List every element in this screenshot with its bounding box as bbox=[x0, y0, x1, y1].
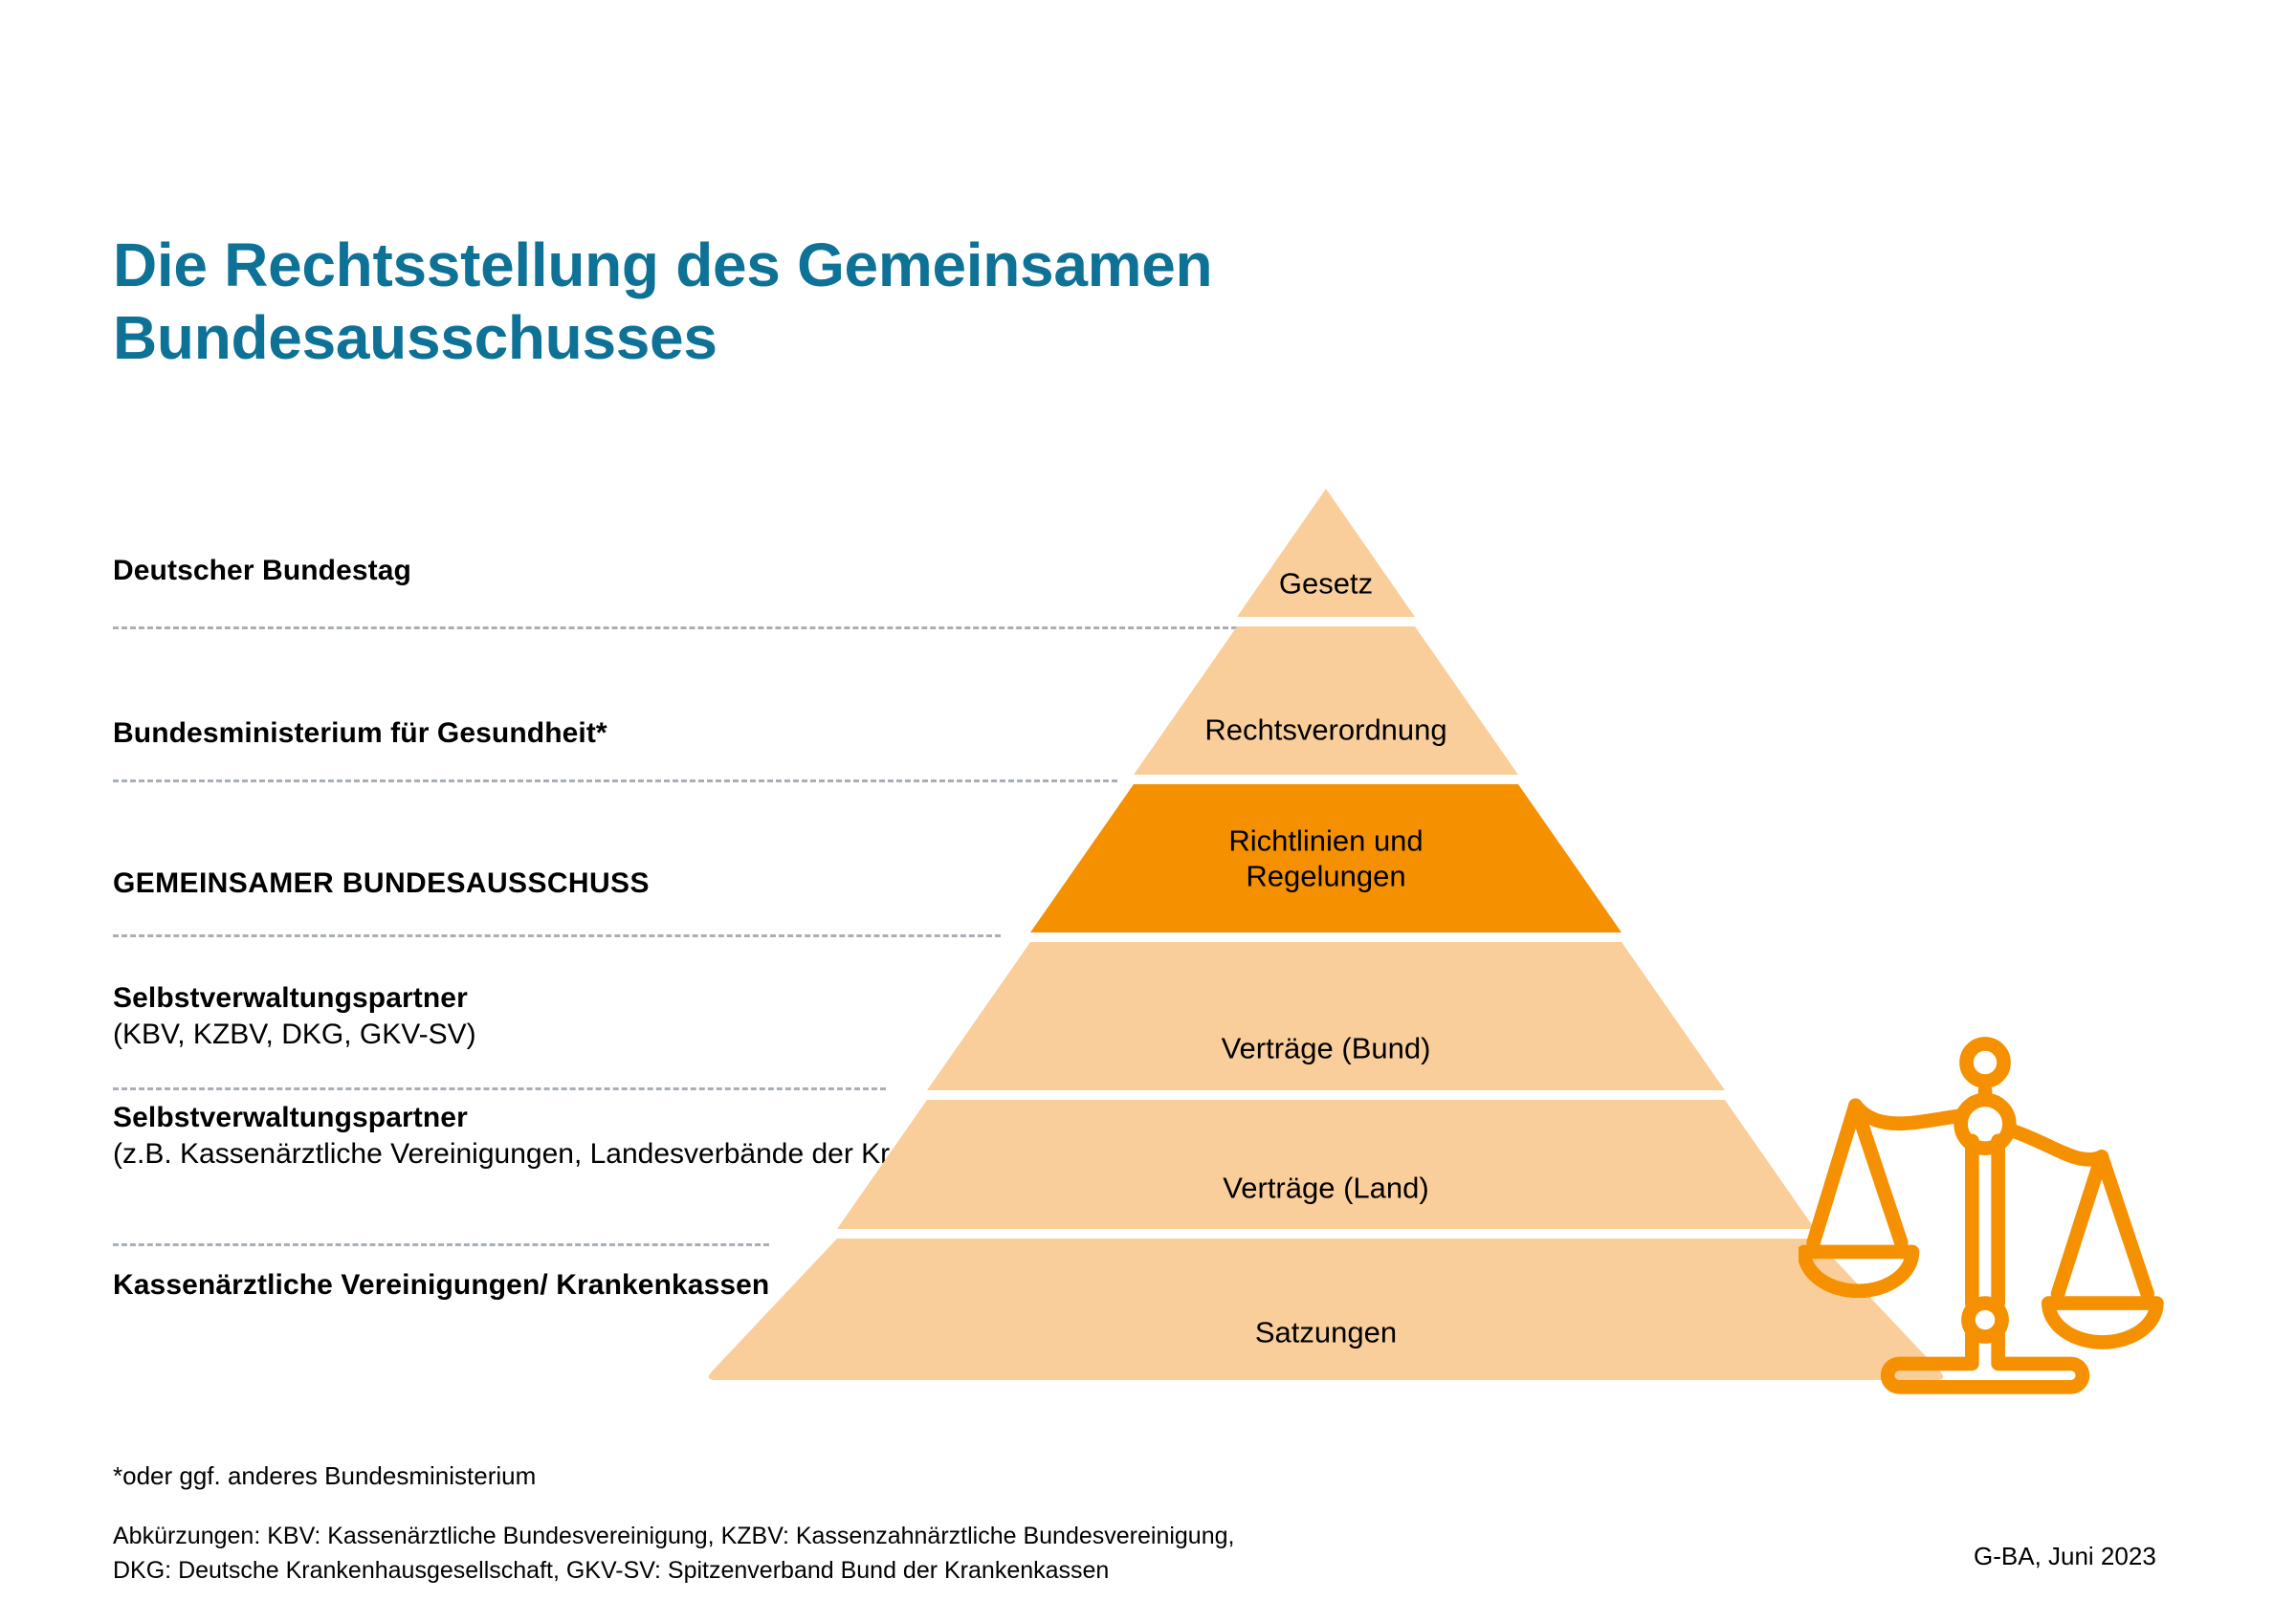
abbreviations-note: Abkürzungen: KBV: Kassenärztliche Bundes… bbox=[113, 1519, 1234, 1589]
pyramid-tier-3-label: Richtlinien und Regelungen bbox=[1228, 823, 1423, 893]
source-credit: G-BA, Juni 2023 bbox=[1974, 1542, 2156, 1571]
abbreviations-line-2: DKG: Deutsche Krankenhausgesellschaft, G… bbox=[113, 1553, 1234, 1588]
footnote-asterisk: *oder ggf. anderes Bundesministerium bbox=[113, 1461, 536, 1491]
actor-label-selbstverwaltung-bund: Selbstverwaltungspartner (KBV, KZBV, DKG… bbox=[113, 980, 476, 1053]
pyramid-tier-6-shape bbox=[709, 1239, 1943, 1380]
pyramid-tier-6-label: Satzungen bbox=[1255, 1316, 1397, 1351]
pyramid-tier-2-label: Rechtsverordnung bbox=[1204, 713, 1446, 749]
actor-name: GEMEINSAMER BUNDESAUSSCHUSS bbox=[113, 866, 650, 902]
pyramid-tier-2-shape bbox=[1134, 626, 1518, 775]
page-title-line-2: Bundesausschusses bbox=[113, 302, 1548, 375]
actor-name: Deutscher Bundestag bbox=[113, 553, 411, 589]
abbreviations-line-1: Abkürzungen: KBV: Kassenärztliche Bundes… bbox=[113, 1519, 1234, 1553]
infographic-canvas: Die Rechtsstellung des Gemeinsamen Bunde… bbox=[0, 0, 2296, 1623]
page-title: Die Rechtsstellung des Gemeinsamen Bunde… bbox=[113, 230, 1548, 374]
actor-label-bundestag: Deutscher Bundestag bbox=[113, 553, 411, 589]
pyramid-tier-1-label: Gesetz bbox=[1279, 567, 1373, 603]
scales-of-justice-icon bbox=[1799, 1023, 2172, 1396]
actor-name: Bundesministerium für Gesundheit* bbox=[113, 715, 607, 752]
page-title-line-1: Die Rechtsstellung des Gemeinsamen bbox=[113, 230, 1548, 302]
pyramid-tier-4-shape bbox=[927, 942, 1725, 1090]
pyramid-tier-4-label: Verträge (Bund) bbox=[1222, 1032, 1431, 1067]
actor-label-bmg: Bundesministerium für Gesundheit* bbox=[113, 715, 607, 752]
actor-label-gba: GEMEINSAMER BUNDESAUSSCHUSS bbox=[113, 866, 650, 902]
pyramid-tier-5-shape bbox=[837, 1100, 1815, 1229]
actor-detail: (KBV, KZBV, DKG, GKV-SV) bbox=[113, 1017, 476, 1053]
actor-name: Selbstverwaltungspartner bbox=[113, 980, 476, 1017]
pyramid-tier-5-label: Verträge (Land) bbox=[1223, 1172, 1428, 1207]
